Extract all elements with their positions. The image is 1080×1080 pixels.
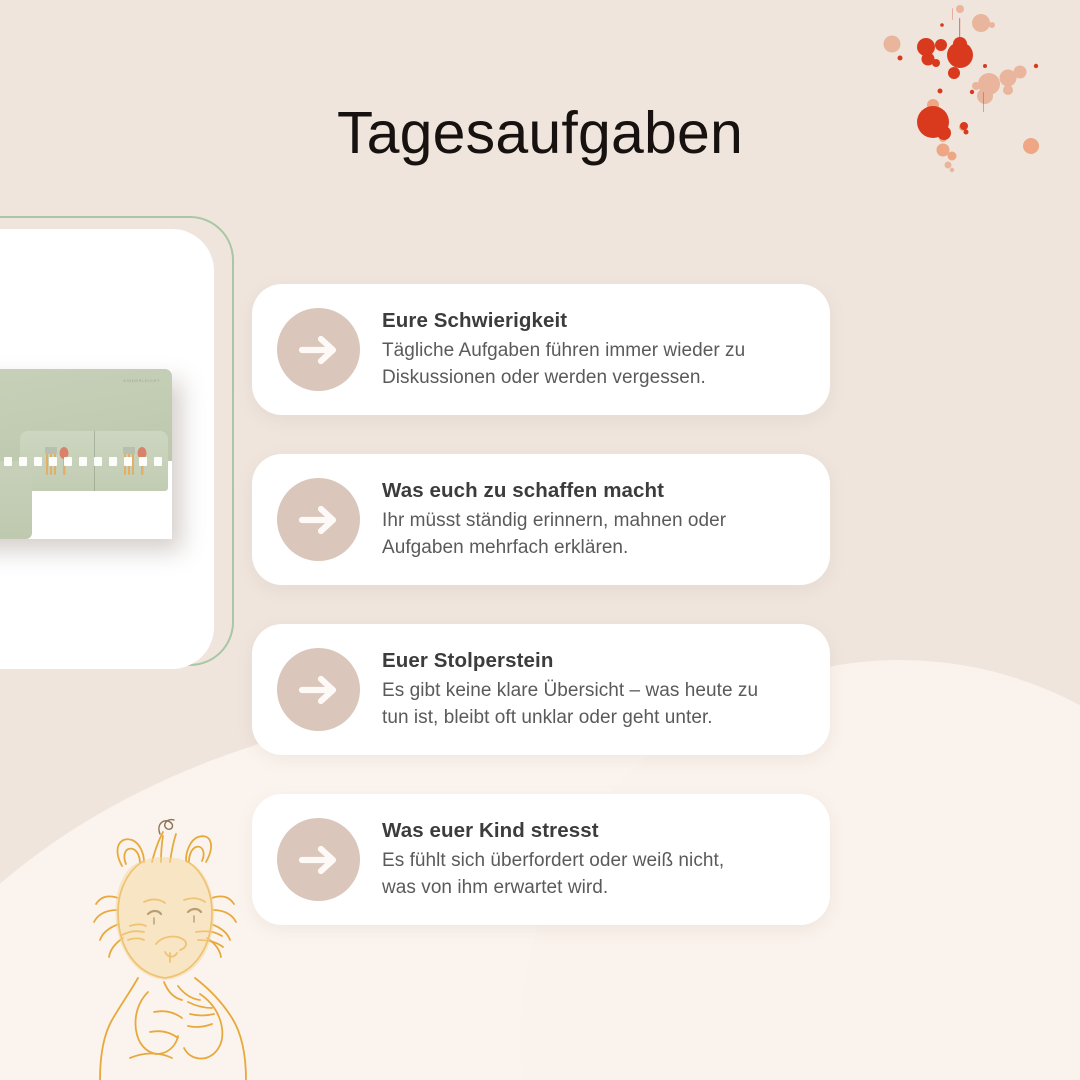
perforation-hole [19, 457, 27, 466]
perforation-hole [4, 457, 12, 466]
info-card-1[interactable]: Eure Schwierigkeit Tägliche Aufgaben füh… [252, 284, 830, 415]
task-board-slots [0, 461, 32, 539]
board-brand-label: KINDERLEICHT [123, 378, 160, 383]
info-card-body: Ihr müsst ständig erinnern, mahnen oder … [382, 507, 726, 561]
info-card-list: Eure Schwierigkeit Tägliche Aufgaben füh… [252, 284, 830, 925]
info-card-body: Es fühlt sich überfordert oder weiß nich… [382, 847, 724, 901]
perforation-hole [139, 457, 147, 466]
page-title: Tagesaufgaben [0, 101, 1080, 166]
info-card-body: Es gibt keine klare Übersicht – was heut… [382, 677, 758, 731]
arrow-right-icon[interactable] [277, 648, 360, 731]
perforation-hole [94, 457, 102, 466]
info-card-body: Tägliche Aufgaben führen immer wieder zu… [382, 337, 745, 391]
perforation-hole [79, 457, 87, 466]
perforation-hole [34, 457, 42, 466]
arrow-right-icon[interactable] [277, 308, 360, 391]
perforation-strip [0, 457, 172, 468]
perforation-hole [124, 457, 132, 466]
info-card-4[interactable]: Was euer Kind stresst Es fühlt sich über… [252, 794, 830, 925]
info-card-title: Eure Schwierigkeit [382, 308, 745, 334]
page-root: Tagesaufgaben KINDERLEICHT MEINE TAGESAU… [0, 0, 1080, 1080]
panel-white-card: KINDERLEICHT MEINE TAGESAUFGABEN aufsteh… [0, 229, 214, 669]
info-card-2[interactable]: Was euch zu schaffen macht Ihr müsst stä… [252, 454, 830, 585]
info-card-text: Was euer Kind stresst Es fühlt sich über… [382, 818, 740, 901]
magnet-dot-row-top [0, 425, 6, 441]
perforation-hole [154, 457, 162, 466]
info-card-title: Euer Stolperstein [382, 648, 758, 674]
lion-illustration [60, 806, 284, 1080]
arrow-right-icon[interactable] [277, 818, 360, 901]
magnet-dot-row-bottom [0, 509, 24, 525]
info-card-title: Was euer Kind stresst [382, 818, 724, 844]
info-card-text: Eure Schwierigkeit Tägliche Aufgaben füh… [382, 308, 761, 391]
perforation-hole [49, 457, 57, 466]
product-photo-panel: KINDERLEICHT MEINE TAGESAUFGABEN aufsteh… [0, 216, 220, 668]
info-card-text: Euer Stolperstein Es gibt keine klare Üb… [382, 648, 774, 731]
paint-splatter-decoration [880, 0, 1080, 200]
info-card-text: Was euch zu schaffen macht Ihr müsst stä… [382, 478, 742, 561]
info-card-3[interactable]: Euer Stolperstein Es gibt keine klare Üb… [252, 624, 830, 755]
arrow-right-icon[interactable] [277, 478, 360, 561]
product-photo-image: KINDERLEICHT MEINE TAGESAUFGABEN aufsteh… [0, 369, 172, 539]
info-card-title: Was euch zu schaffen macht [382, 478, 726, 504]
perforation-hole [109, 457, 117, 466]
perforation-hole [64, 457, 72, 466]
